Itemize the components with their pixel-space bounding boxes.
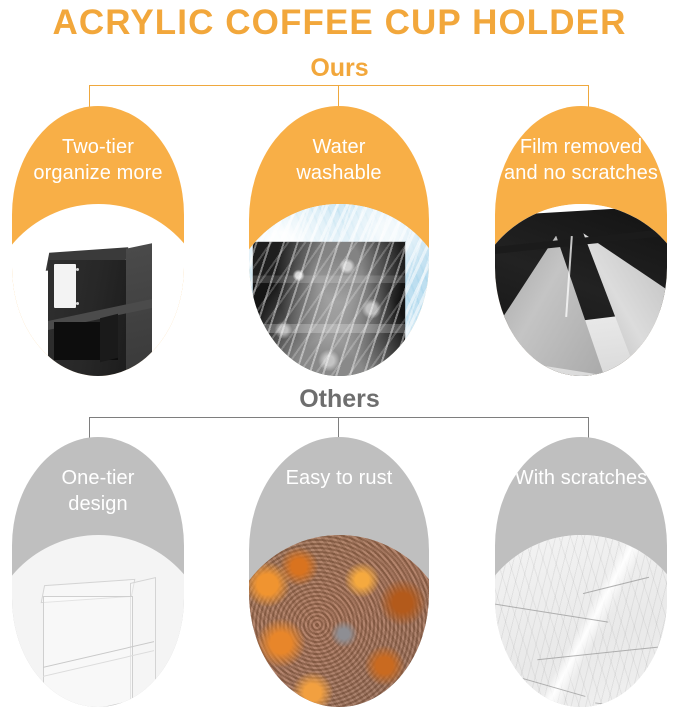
bracket-tick-right [588, 85, 589, 107]
scratch-line [582, 576, 648, 593]
rust-surface [249, 535, 429, 707]
clearbox-side-face [130, 576, 156, 704]
film-illustration [495, 204, 667, 376]
scratch-line [502, 672, 584, 697]
scratch-line [537, 645, 667, 661]
black-two-tier-holder-photo [12, 204, 184, 376]
feature-label-line-1: Film removed [520, 136, 642, 158]
drawback-panel-easy-to-rust[interactable]: Easy to rust [249, 437, 429, 707]
scratched-surface-photo [495, 535, 667, 707]
feature-panel-label: Water washable [249, 134, 429, 186]
drawback-label-line-1: One-tier [61, 467, 134, 489]
bracket-ours [89, 85, 589, 107]
holder-cavity-side [100, 313, 118, 361]
drawback-label-line-1: Easy to rust [286, 467, 393, 489]
acrylic-holder-illustration [40, 242, 158, 377]
holder-submerged [253, 242, 405, 376]
scratched-surface [495, 535, 667, 707]
bracket-tick-left [89, 85, 90, 107]
holder-in-water-splash-photo [249, 204, 429, 376]
feature-panel-water-washable[interactable]: Water washable [249, 106, 429, 376]
feature-label-line-2: and no scratches [504, 162, 658, 184]
feature-label-line-2: organize more [33, 162, 162, 184]
bracket-tick-center [338, 85, 339, 107]
feature-panel-film-removed[interactable]: Film removed and no scratches [495, 106, 667, 376]
feature-panel-label: Two-tier organize more [12, 134, 184, 186]
page-title: ACRYLIC COFFEE CUP HOLDER [0, 2, 679, 44]
drawback-panel-label: Easy to rust [249, 465, 429, 491]
rust-texture-photo [249, 535, 429, 707]
holder-upper-slot [54, 264, 76, 308]
section-heading-ours: Ours [0, 53, 679, 83]
drawback-panel-with-scratches[interactable]: With scratches [495, 437, 667, 707]
section-heading-others: Others [0, 384, 679, 414]
protective-film-peeling-photo [495, 204, 667, 376]
drawback-label-line-1: With scratches [515, 467, 648, 489]
scratch-line [495, 602, 608, 622]
clear-acrylic-box-illustration [37, 574, 161, 708]
feature-label-line-1: Water [312, 136, 365, 158]
feature-label-line-2: washable [296, 162, 381, 184]
feature-panel-label: Film removed and no scratches [495, 134, 667, 186]
bracket-tick-center [338, 417, 339, 439]
feature-label-line-1: Two-tier [62, 136, 134, 158]
bracket-others [89, 417, 589, 439]
bracket-tick-left [89, 417, 90, 439]
feature-panel-two-tier[interactable]: Two-tier organize more [12, 106, 184, 376]
bracket-tick-right [588, 417, 589, 439]
drawback-label-line-2: design [68, 493, 128, 515]
drawback-panel-label: One-tier design [12, 465, 184, 517]
clear-one-tier-box-photo [12, 535, 184, 707]
holder-highlight-dot-lower [76, 302, 79, 305]
drawback-panel-one-tier[interactable]: One-tier design [12, 437, 184, 707]
holder-highlight-dot-upper [76, 268, 79, 271]
drawback-panel-label: With scratches [495, 465, 667, 491]
scratch-line [595, 702, 653, 707]
